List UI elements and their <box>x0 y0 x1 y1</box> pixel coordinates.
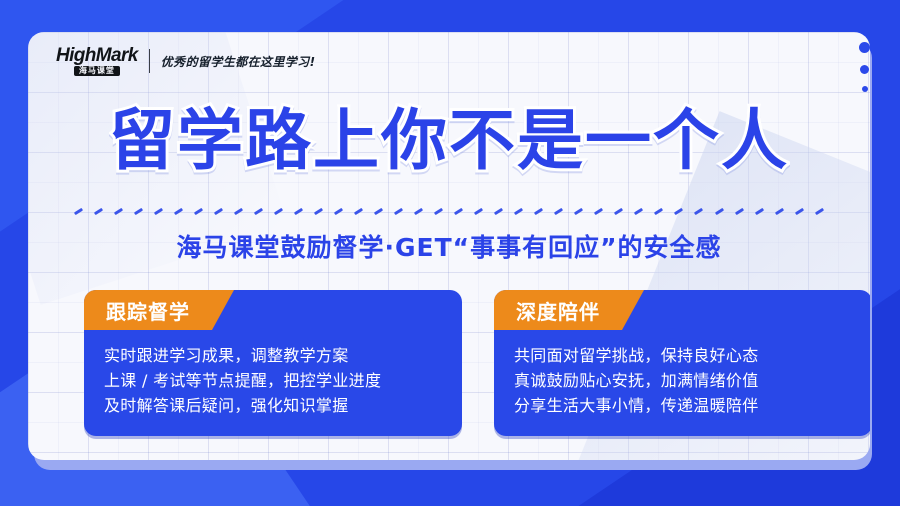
highmark-logo: HighMark 海马课堂 <box>56 46 138 76</box>
dash-tick-icon <box>474 207 483 214</box>
dash-tick-icon <box>814 207 823 214</box>
logo-wordmark-text: HighMark <box>56 46 138 65</box>
dot-medium-icon <box>860 65 869 74</box>
dash-tick-icon <box>294 207 303 214</box>
feature-card-tab: 深度陪伴 <box>494 290 644 330</box>
dash-tick-icon <box>534 207 543 214</box>
dash-tick-icon <box>554 207 563 214</box>
dash-tick-icon <box>574 207 583 214</box>
dash-tick-icon <box>74 207 83 214</box>
dash-tick-icon <box>194 207 203 214</box>
dash-tick-icon <box>334 207 343 214</box>
brand-tagline: 优秀的留学生都在这里学习! <box>161 53 316 70</box>
logo-chinese-name: 海马课堂 <box>74 66 120 76</box>
dashed-separator <box>74 204 824 218</box>
dash-tick-icon <box>754 207 763 214</box>
page-subtitle: 海马课堂鼓励督学·GET“事事有回应”的安全感 <box>28 228 870 264</box>
dash-tick-icon <box>174 207 183 214</box>
feature-line: 分享生活大事小情，传递温暖陪伴 <box>514 394 852 419</box>
dash-tick-icon <box>774 207 783 214</box>
poster-canvas: HighMark 海马课堂 优秀的留学生都在这里学习! 留学路上你不是一个人 海… <box>0 0 900 506</box>
dash-tick-icon <box>714 207 723 214</box>
page-title: 留学路上你不是一个人 <box>28 108 870 174</box>
dash-tick-icon <box>354 207 363 214</box>
dash-tick-icon <box>434 207 443 214</box>
paper-card: HighMark 海马课堂 优秀的留学生都在这里学习! 留学路上你不是一个人 海… <box>28 32 870 460</box>
dash-tick-icon <box>514 207 523 214</box>
dash-tick-icon <box>494 207 503 214</box>
feature-line: 实时跟进学习成果，调整教学方案 <box>104 344 442 369</box>
dash-tick-icon <box>794 207 803 214</box>
feature-line: 共同面对留学挑战，保持良好心态 <box>514 344 852 369</box>
feature-line: 及时解答课后疑问，强化知识掌握 <box>104 394 442 419</box>
dash-tick-icon <box>274 207 283 214</box>
logo-wordmark: HighMark <box>56 46 138 65</box>
dash-tick-icon <box>634 207 643 214</box>
dash-tick-icon <box>654 207 663 214</box>
dash-tick-icon <box>414 207 423 214</box>
dash-tick-icon <box>594 207 603 214</box>
feature-line: 上课 / 考试等节点提醒，把控学业进度 <box>104 369 442 394</box>
dot-decoration-group <box>859 42 870 92</box>
dash-tick-icon <box>234 207 243 214</box>
feature-card: 跟踪督学 实时跟进学习成果，调整教学方案 上课 / 考试等节点提醒，把控学业进度… <box>84 290 462 436</box>
dash-tick-icon <box>154 207 163 214</box>
feature-line: 真诚鼓励贴心安抚，加满情绪价值 <box>514 369 852 394</box>
dash-tick-icon <box>694 207 703 214</box>
dash-tick-icon <box>454 207 463 214</box>
dash-tick-icon <box>314 207 323 214</box>
dash-tick-icon <box>214 207 223 214</box>
feature-card-tab: 跟踪督学 <box>84 290 234 330</box>
feature-card: 深度陪伴 共同面对留学挑战，保持良好心态 真诚鼓励贴心安抚，加满情绪价值 分享生… <box>494 290 870 436</box>
dash-tick-icon <box>114 207 123 214</box>
feature-card-list: 跟踪督学 实时跟进学习成果，调整教学方案 上课 / 考试等节点提醒，把控学业进度… <box>84 290 870 436</box>
dash-tick-icon <box>614 207 623 214</box>
dash-tick-icon <box>134 207 143 214</box>
dash-tick-icon <box>734 207 743 214</box>
brand-header: HighMark 海马课堂 优秀的留学生都在这里学习! <box>56 44 315 78</box>
dot-large-icon <box>859 42 870 53</box>
dash-tick-icon <box>394 207 403 214</box>
dash-tick-icon <box>374 207 383 214</box>
dash-tick-icon <box>94 207 103 214</box>
dash-tick-icon <box>254 207 263 214</box>
dot-small-icon <box>862 86 868 92</box>
header-divider <box>149 49 150 73</box>
dash-tick-icon <box>674 207 683 214</box>
